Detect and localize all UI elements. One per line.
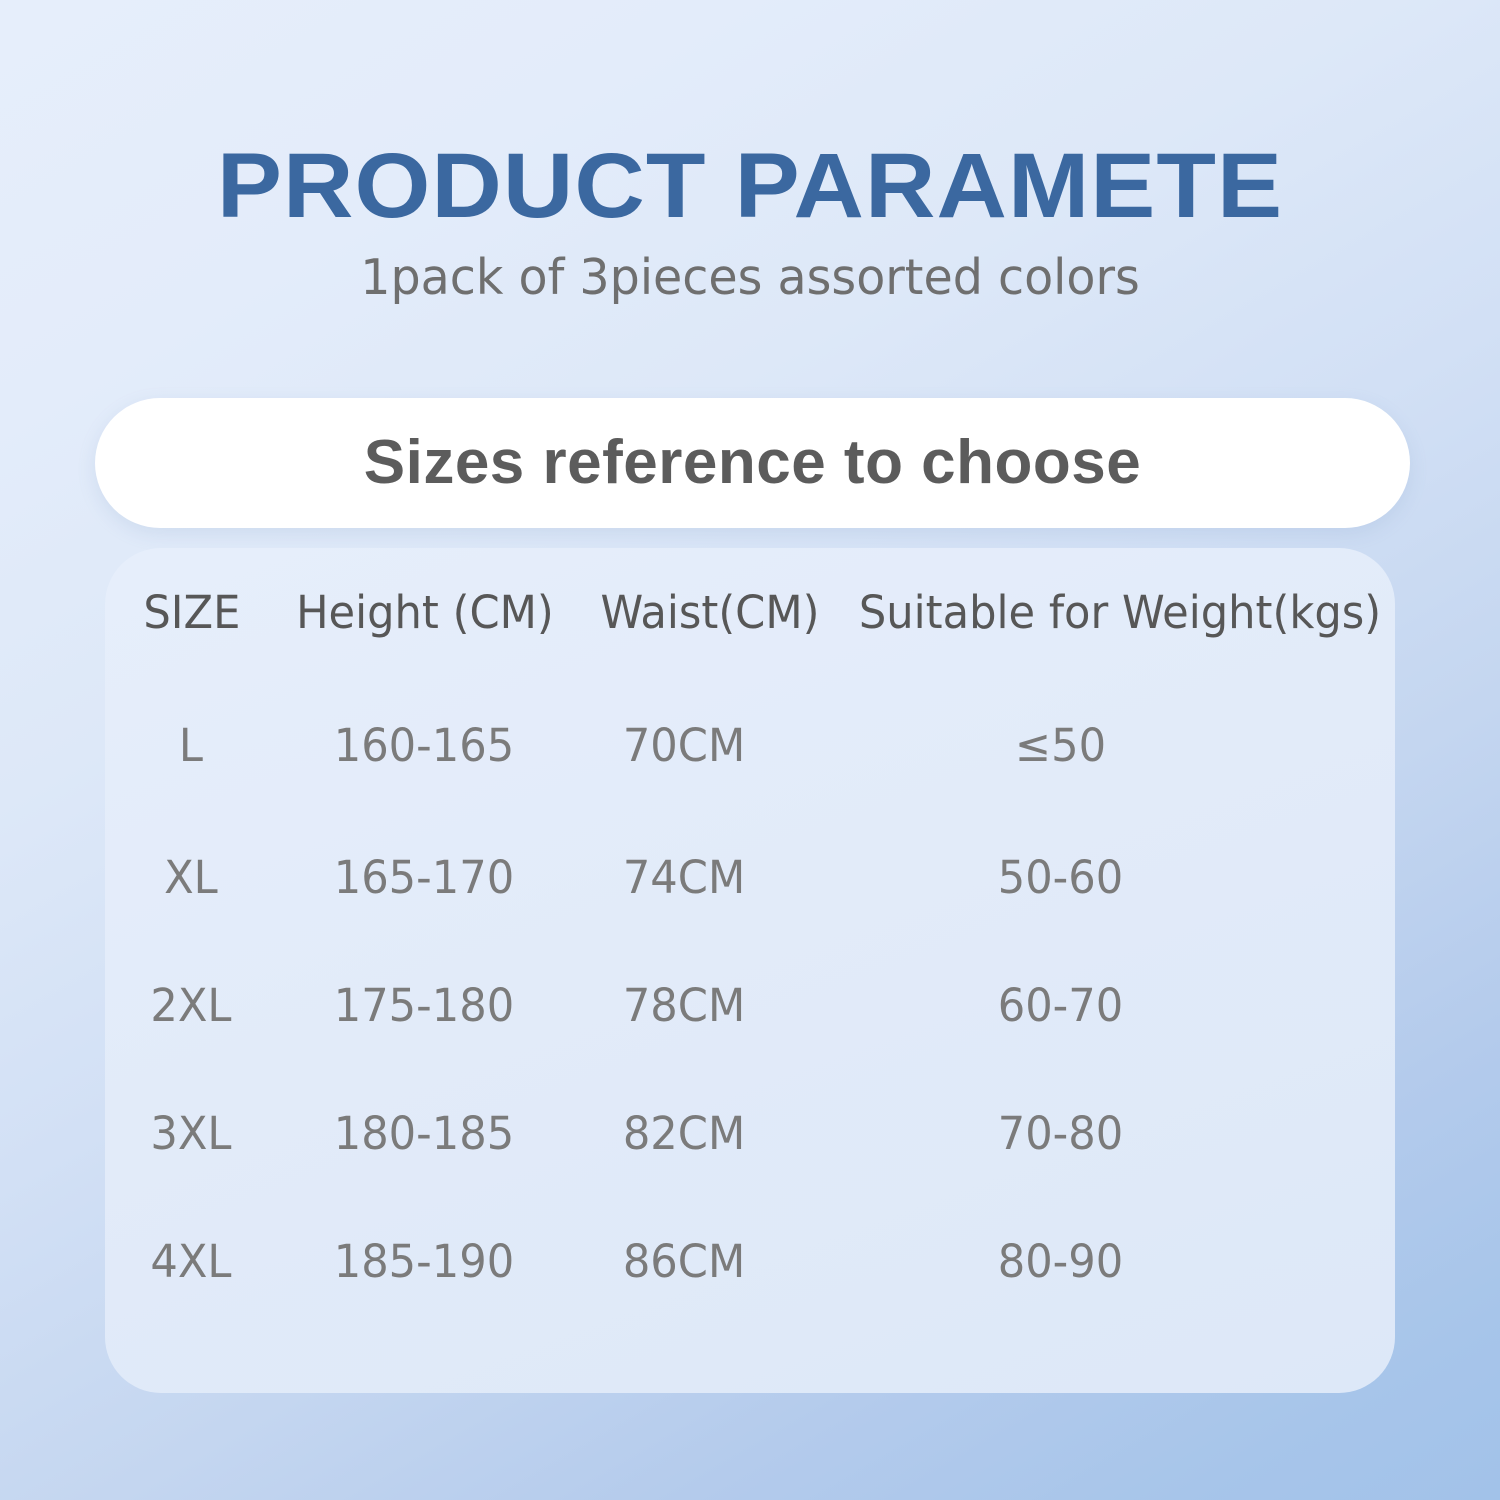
cell-height: 180-185 <box>279 1070 567 1198</box>
cell-weight: 80-90 <box>856 1198 1384 1326</box>
cell-height: 165-170 <box>279 814 567 942</box>
page-subtitle: 1pack of 3pieces assorted colors <box>23 248 1478 308</box>
cell-waist: 82CM <box>578 1070 839 1198</box>
cell-height: 175-180 <box>279 942 567 1070</box>
sizes-reference-banner: Sizes reference to choose <box>95 398 1410 528</box>
cell-weight: 60-70 <box>856 942 1384 1070</box>
cell-waist: 86CM <box>578 1198 839 1326</box>
table-body: L 160-165 70CM ≤50 XL 165-170 74CM 50-60… <box>105 678 1395 1326</box>
cell-waist: 74CM <box>578 814 839 942</box>
cell-weight: 50-60 <box>856 814 1384 942</box>
banner-title: Sizes reference to choose <box>364 430 1141 496</box>
cell-weight: ≤50 <box>856 678 1384 814</box>
table-row: XL 165-170 74CM 50-60 <box>105 814 1395 942</box>
size-table-card: SIZE Height (CM) Waist(CM) Suitable for … <box>105 548 1395 1393</box>
table-row: 2XL 175-180 78CM 60-70 <box>105 942 1395 1070</box>
cell-height: 185-190 <box>279 1198 567 1326</box>
table-header-row: SIZE Height (CM) Waist(CM) Suitable for … <box>105 548 1395 678</box>
table-row: 4XL 185-190 86CM 80-90 <box>105 1198 1395 1326</box>
table-row: 3XL 180-185 82CM 70-80 <box>105 1070 1395 1198</box>
page-title: PRODUCT PARAMETE <box>0 136 1500 236</box>
product-parameter-page: PRODUCT PARAMETE 1pack of 3pieces assort… <box>0 0 1500 1500</box>
cell-waist: 70CM <box>578 678 839 814</box>
cell-waist: 78CM <box>578 942 839 1070</box>
column-header-height: Height (CM) <box>279 548 567 678</box>
cell-weight: 70-80 <box>856 1070 1384 1198</box>
cell-size: 2XL <box>108 942 269 1070</box>
size-chart-table: SIZE Height (CM) Waist(CM) Suitable for … <box>105 548 1395 1326</box>
cell-size: XL <box>108 814 269 942</box>
column-header-weight: Suitable for Weight(kgs) <box>856 548 1384 678</box>
table-row: L 160-165 70CM ≤50 <box>105 678 1395 814</box>
table-header: SIZE Height (CM) Waist(CM) Suitable for … <box>105 548 1395 678</box>
cell-height: 160-165 <box>279 678 567 814</box>
cell-size: L <box>108 678 269 814</box>
cell-size: 4XL <box>108 1198 269 1326</box>
column-header-size: SIZE <box>108 548 269 678</box>
column-header-waist: Waist(CM) <box>578 548 839 678</box>
cell-size: 3XL <box>108 1070 269 1198</box>
